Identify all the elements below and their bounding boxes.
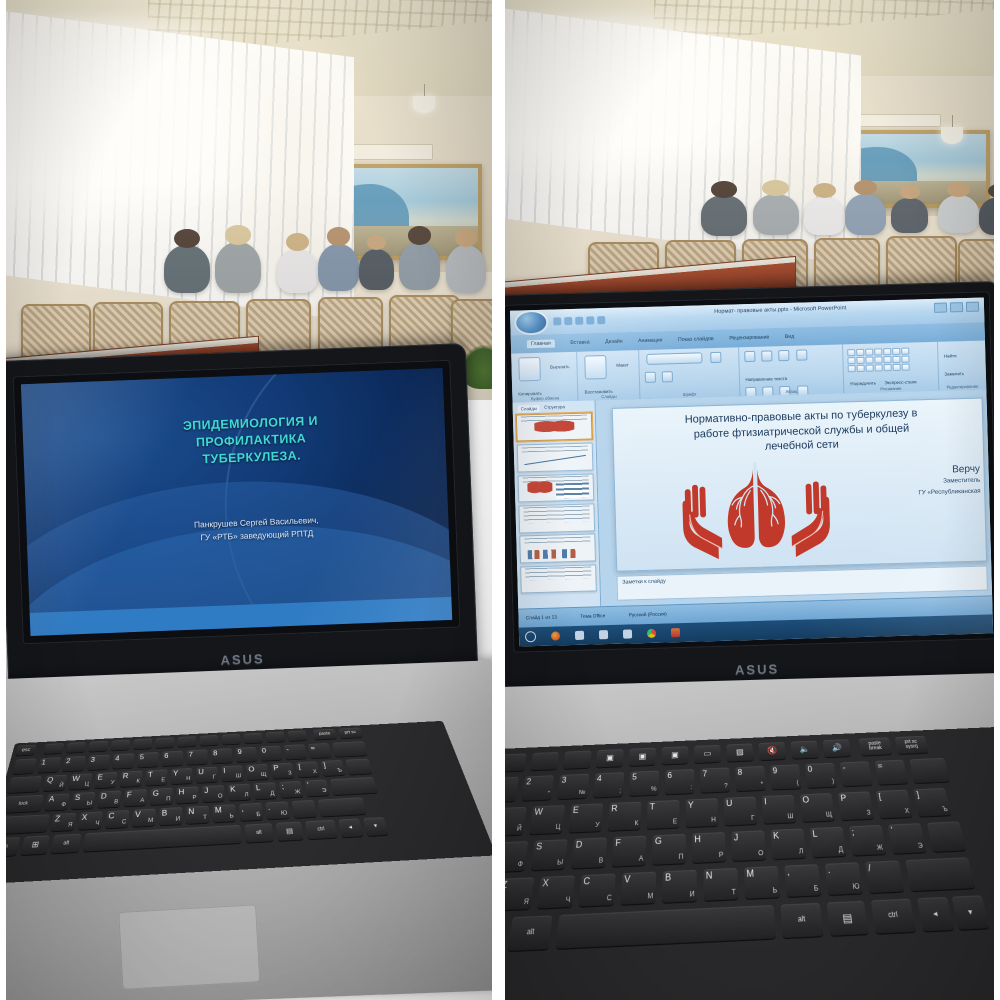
key-f2[interactable] bbox=[505, 753, 527, 772]
laptop-screen-right[interactable]: Нормат- правовые акты.pptx - Microsoft P… bbox=[510, 297, 993, 646]
key-u[interactable]: UГ bbox=[196, 767, 218, 783]
key-minus[interactable]: - bbox=[840, 761, 873, 786]
key-bracket-left[interactable]: [Х bbox=[876, 790, 913, 819]
key-bracket-left[interactable]: [Х bbox=[296, 761, 320, 777]
key-m[interactable]: MЬ bbox=[213, 804, 236, 822]
key-shift-left[interactable] bbox=[0, 814, 50, 834]
key-quote[interactable]: 'Э bbox=[888, 823, 926, 854]
attendee bbox=[215, 242, 261, 294]
key-4[interactable]: 4 bbox=[112, 753, 134, 769]
key-a[interactable]: AФ bbox=[45, 793, 70, 811]
save-icon[interactable] bbox=[553, 318, 561, 326]
thumbnail-slide-4[interactable] bbox=[518, 503, 595, 533]
key-period[interactable]: .Ю bbox=[265, 801, 290, 819]
laptop-base-right: ▣ ▣ ▣ ▭ ▨ 🔇 🔈 🔊 pastebreak prt scsysrq bbox=[505, 672, 1000, 1000]
conference-room-right bbox=[505, 0, 1000, 318]
key-label-sysrq: sysrq bbox=[905, 745, 918, 750]
panel-divider bbox=[492, 0, 505, 1000]
key-period[interactable]: .Ю bbox=[825, 862, 863, 895]
attendee bbox=[446, 245, 487, 293]
key-s[interactable]: SЫ bbox=[531, 839, 568, 870]
powerpoint-icon[interactable] bbox=[670, 628, 679, 637]
attendee bbox=[164, 245, 210, 293]
tab-retsenzirovanie[interactable]: Рецензирование bbox=[729, 334, 769, 341]
right-margin bbox=[994, 0, 1000, 1000]
screen-bezel: Нормат- правовые акты.pptx - Microsoft P… bbox=[505, 291, 999, 652]
key-f7[interactable]: ▣ bbox=[661, 746, 688, 764]
key-r[interactable]: RК bbox=[120, 771, 143, 788]
key-t[interactable]: TЕ bbox=[145, 769, 167, 785]
key-alt-right[interactable]: alt bbox=[245, 823, 274, 843]
attendee bbox=[753, 194, 799, 235]
briefcase-icon[interactable] bbox=[575, 631, 584, 640]
bullets-icon[interactable] bbox=[744, 351, 755, 362]
key-enter[interactable] bbox=[330, 777, 377, 795]
key-f12-vol-up[interactable]: 🔊 bbox=[823, 739, 852, 757]
key-win[interactable]: ⊞ bbox=[505, 917, 506, 953]
window-controls[interactable] bbox=[934, 301, 979, 312]
key-quote[interactable]: 'Э bbox=[305, 779, 330, 796]
clear-format-icon[interactable] bbox=[662, 371, 673, 382]
slide-title-text: Нормативно-правовые акты по туберкулезу … bbox=[627, 405, 975, 458]
key-backspace[interactable] bbox=[332, 741, 367, 757]
key-k[interactable]: KЛ bbox=[771, 828, 806, 859]
key-b[interactable]: BИ bbox=[159, 807, 182, 825]
key-f4[interactable] bbox=[563, 750, 591, 768]
ribbon-group-font: Ж К Ч abc S AV Aa A Шрифт bbox=[639, 347, 740, 399]
key-x[interactable]: XЧ bbox=[537, 875, 575, 908]
key-v[interactable]: VМ bbox=[621, 872, 657, 905]
key-z[interactable]: ZЯ bbox=[51, 813, 77, 832]
key-alt-right[interactable]: alt bbox=[780, 903, 823, 938]
key-c[interactable]: CС bbox=[579, 873, 616, 906]
ribbon-group-clipboard: Вырезать Копировать Формат по образцу Бу… bbox=[511, 351, 579, 402]
ribbon-group-drawing: Упорядочить Экспресс-стили Рисование bbox=[843, 341, 939, 393]
key-e[interactable]: EУ bbox=[94, 772, 117, 789]
lungs-icon bbox=[726, 463, 786, 548]
key-w[interactable]: WЦ bbox=[68, 773, 92, 790]
key-arrow-left[interactable]: ◂ bbox=[917, 897, 954, 931]
close-button[interactable] bbox=[966, 301, 979, 311]
key-r[interactable]: RК bbox=[608, 802, 642, 831]
key-arrow-updown[interactable]: ▾ bbox=[952, 895, 990, 929]
numbering-icon[interactable] bbox=[761, 350, 772, 361]
tab-glavnaya[interactable]: Главная bbox=[527, 339, 555, 348]
thumb-tab-slides[interactable]: Слайды bbox=[518, 405, 541, 413]
key-i[interactable]: IШ bbox=[762, 795, 796, 824]
chrome-icon[interactable] bbox=[647, 629, 656, 638]
firefox-icon[interactable] bbox=[551, 632, 560, 641]
key-bracket-right[interactable]: ]Ъ bbox=[321, 760, 345, 776]
touchpad-left[interactable] bbox=[118, 904, 260, 990]
key-n[interactable]: NТ bbox=[703, 868, 738, 901]
font-grow-icon[interactable] bbox=[711, 351, 722, 362]
thumbnail-slide-5[interactable] bbox=[519, 534, 596, 564]
key-p[interactable]: PЗ bbox=[838, 791, 874, 820]
attendee bbox=[891, 198, 927, 233]
key-equal[interactable]: = bbox=[308, 743, 331, 758]
key-8[interactable]: 8 bbox=[211, 748, 232, 764]
key-alt-left[interactable]: alt bbox=[508, 915, 553, 951]
notes-pane[interactable]: Заметки к слайду bbox=[616, 565, 988, 600]
slideshow-icon[interactable] bbox=[586, 317, 594, 325]
key-d[interactable]: DВ bbox=[571, 837, 607, 868]
asus-logo: ASUS bbox=[220, 651, 265, 668]
ribbon-group-paragraph: Направление текста Выровнять текст Преоб… bbox=[739, 344, 845, 396]
key-f11[interactable] bbox=[266, 732, 286, 743]
redo-icon[interactable] bbox=[575, 317, 583, 325]
key-9[interactable]: 9 bbox=[235, 747, 257, 762]
key-comma[interactable]: ,Б bbox=[239, 803, 263, 821]
slide-title-text: ЭПИДЕМИОЛОГИЯ И ПРОФИЛАКТИКА ТУБЕРКУЛЕЗА… bbox=[124, 411, 379, 472]
laptop-lid: Нормат- правовые акты.pptx - Microsoft P… bbox=[505, 281, 1000, 695]
key-f10[interactable] bbox=[244, 733, 263, 744]
key-backspace[interactable] bbox=[909, 758, 949, 783]
powerpoint-window[interactable]: Нормат- правовые акты.pptx - Microsoft P… bbox=[510, 297, 993, 646]
key-menu[interactable]: ▤ bbox=[827, 901, 869, 936]
key-y[interactable]: YН bbox=[686, 798, 719, 827]
quick-access-toolbar[interactable] bbox=[553, 313, 605, 329]
key-f4[interactable] bbox=[111, 740, 131, 751]
key-f8-display[interactable]: ▭ bbox=[694, 745, 721, 763]
find-label[interactable]: Найти bbox=[944, 353, 957, 358]
key-l[interactable]: LД bbox=[254, 782, 278, 799]
key-ctrl-right[interactable]: ctrl bbox=[871, 899, 916, 934]
key-v[interactable]: VМ bbox=[132, 808, 156, 826]
key-j[interactable]: JО bbox=[202, 785, 224, 802]
ppt-workspace: Слайды Структура bbox=[513, 389, 993, 609]
screenshot-canvas: ЭПИДЕМИОЛОГИЯ И ПРОФИЛАКТИКА ТУБЕРКУЛЕЗА… bbox=[0, 0, 1000, 1000]
key-h[interactable]: HР bbox=[176, 786, 198, 803]
key-f8[interactable] bbox=[200, 735, 219, 746]
key-paste-break[interactable]: paste bbox=[313, 729, 337, 740]
key-p[interactable]: PЗ bbox=[271, 763, 294, 779]
minimize-button[interactable] bbox=[934, 302, 947, 312]
search-icon[interactable] bbox=[525, 631, 536, 642]
key-f5[interactable]: ▣ bbox=[596, 749, 624, 767]
key-bracket-right[interactable]: ]Ъ bbox=[913, 788, 951, 817]
key-g[interactable]: GП bbox=[150, 788, 173, 805]
key-f3[interactable] bbox=[530, 752, 559, 770]
lungs-in-hands-graphic bbox=[651, 457, 861, 563]
ribbon-group-editing: Найти Заменить Выделить Редактирование bbox=[938, 340, 987, 390]
key-equal[interactable]: = bbox=[875, 760, 908, 785]
key-prtsc[interactable]: prt sc bbox=[338, 727, 362, 738]
restore-button[interactable] bbox=[950, 302, 963, 312]
key-f6[interactable]: ▣ bbox=[629, 748, 656, 766]
key-alt-left[interactable]: alt bbox=[51, 834, 82, 854]
arrange-label[interactable]: Упорядочить bbox=[850, 380, 876, 386]
key-e[interactable]: EУ bbox=[568, 803, 603, 832]
key-3[interactable]: 3 bbox=[87, 755, 110, 771]
slide-editing-area[interactable]: Нормативно-правовые акты по туберкулезу … bbox=[595, 389, 992, 607]
key-q[interactable]: QЙ bbox=[505, 807, 527, 836]
key-label-break: break bbox=[869, 746, 882, 751]
attendee bbox=[701, 195, 747, 236]
undo-icon[interactable] bbox=[564, 317, 572, 325]
slide-author-block: Верчу Заместитель ГУ «Республиканская bbox=[918, 463, 981, 498]
attendee bbox=[804, 197, 845, 235]
key-c[interactable]: CС bbox=[105, 810, 129, 828]
attendee bbox=[277, 249, 318, 293]
attendee bbox=[938, 195, 979, 233]
font-name-combo[interactable] bbox=[646, 352, 702, 365]
tab-pokaz-slaydov[interactable]: Показ слайдов bbox=[678, 336, 714, 343]
text-direction-label[interactable]: Направление текста bbox=[745, 376, 787, 382]
key-h[interactable]: HР bbox=[692, 832, 726, 863]
thumbnail-slide-6[interactable] bbox=[520, 564, 597, 594]
customize-icon[interactable] bbox=[597, 316, 605, 324]
current-slide[interactable]: Нормативно-правовые акты по туберкулезу … bbox=[611, 398, 987, 572]
key-slash[interactable] bbox=[292, 800, 317, 818]
key-5[interactable]: 5% bbox=[629, 771, 659, 796]
key-semicolon[interactable]: ;Ж bbox=[279, 781, 303, 798]
key-f9[interactable]: ▨ bbox=[726, 743, 753, 761]
thumbnail-slide-2[interactable] bbox=[517, 443, 594, 473]
laptop-left: ЭПИДЕМИОЛОГИЯ И ПРОФИЛАКТИКА ТУБЕРКУЛЕЗА… bbox=[0, 340, 492, 1000]
laptop-base-left: esc paste prt sc bbox=[0, 659, 492, 1000]
tab-vid[interactable]: Вид bbox=[785, 334, 795, 340]
key-l[interactable]: LД bbox=[810, 827, 846, 858]
key-1[interactable]: 1 bbox=[37, 757, 61, 773]
key-paste-break[interactable]: pastebreak bbox=[859, 737, 892, 755]
thumb-tab-outline[interactable]: Структура bbox=[544, 404, 565, 412]
attendee bbox=[845, 194, 886, 235]
key-tab[interactable] bbox=[7, 776, 42, 793]
screen-bezel: ЭПИДЕМИОЛОГИЯ И ПРОФИЛАКТИКА ТУБЕРКУЛЕЗА… bbox=[13, 360, 461, 645]
key-z[interactable]: ZЯ bbox=[505, 877, 534, 910]
key-o[interactable]: OЩ bbox=[246, 764, 269, 780]
key-d[interactable]: DВ bbox=[97, 791, 121, 808]
laptop-right: Нормат- правовые акты.pptx - Microsoft P… bbox=[505, 288, 1000, 1000]
key-shift-right[interactable] bbox=[905, 857, 975, 891]
key-2[interactable]: 2 bbox=[62, 756, 86, 772]
key-3[interactable]: 3№ bbox=[557, 774, 589, 800]
status-language: Русский (Россия) bbox=[629, 612, 667, 618]
attendee bbox=[359, 249, 395, 289]
key-tilde[interactable] bbox=[12, 758, 37, 774]
key-w[interactable]: WЦ bbox=[529, 805, 565, 834]
pendant-lamp bbox=[941, 127, 963, 144]
folder-icon[interactable] bbox=[623, 630, 632, 639]
key-win[interactable]: ⊞ bbox=[20, 835, 49, 855]
key-n[interactable]: NТ bbox=[186, 806, 209, 824]
title-slide: ЭПИДЕМИОЛОГИЯ И ПРОФИЛАКТИКА ТУБЕРКУЛЕЗА… bbox=[21, 368, 452, 636]
thumbnail-slide-3[interactable] bbox=[518, 473, 595, 503]
slide-thumbnail-panel[interactable]: Слайды Структура bbox=[513, 400, 602, 610]
left-hand-icon bbox=[681, 484, 722, 560]
thumbnail-slide-1[interactable] bbox=[516, 412, 593, 442]
key-space[interactable] bbox=[83, 825, 242, 852]
key-semicolon[interactable]: ;Ж bbox=[849, 825, 886, 856]
key-comma[interactable]: ,Б bbox=[784, 864, 821, 897]
explorer-icon[interactable] bbox=[599, 630, 608, 639]
key-prtsc-sysrq[interactable]: prt scsysrq bbox=[895, 736, 929, 754]
key-capslock[interactable]: lock bbox=[2, 795, 44, 813]
key-1[interactable]: 1 bbox=[505, 777, 519, 803]
key-space[interactable] bbox=[556, 905, 776, 949]
laptop-screen-left[interactable]: ЭПИДЕМИОЛОГИЯ И ПРОФИЛАКТИКА ТУБЕРКУЛЕЗА… bbox=[21, 368, 452, 636]
key-a[interactable]: AФ bbox=[505, 841, 528, 872]
key-i[interactable]: IШ bbox=[221, 765, 243, 781]
asus-logo: ASUS bbox=[735, 661, 780, 677]
key-f7[interactable] bbox=[178, 736, 197, 747]
paste-button[interactable] bbox=[518, 357, 541, 382]
key-7[interactable]: 7? bbox=[700, 767, 730, 792]
key-f9[interactable] bbox=[222, 734, 241, 745]
key-f2[interactable] bbox=[66, 742, 86, 753]
key-x[interactable]: XЧ bbox=[78, 811, 103, 830]
key-y[interactable]: YН bbox=[171, 768, 193, 784]
key-2[interactable]: 2" bbox=[521, 775, 554, 801]
key-m[interactable]: MЬ bbox=[744, 866, 780, 899]
key-4[interactable]: 4; bbox=[593, 772, 624, 797]
key-slash[interactable]: / bbox=[865, 860, 904, 893]
key-f11-vol-down[interactable]: 🔈 bbox=[791, 741, 819, 759]
key-shift-right[interactable] bbox=[318, 797, 366, 816]
key-o[interactable]: OЩ bbox=[800, 793, 835, 822]
key-u[interactable]: UГ bbox=[724, 796, 757, 825]
laptop-lid: ЭПИДЕМИОЛОГИЯ И ПРОФИЛАКТИКА ТУБЕРКУЛЕЗА… bbox=[0, 343, 478, 685]
key-f[interactable]: FА bbox=[612, 836, 647, 867]
quick-styles-label[interactable]: Экспресс-стили bbox=[884, 379, 916, 385]
key-k[interactable]: KЛ bbox=[228, 784, 251, 801]
key-menu[interactable]: ▤ bbox=[276, 822, 304, 841]
tab-vstavka[interactable]: Вставка bbox=[570, 339, 589, 346]
new-slide-button[interactable] bbox=[585, 355, 608, 380]
replace-label[interactable]: Заменить bbox=[944, 371, 964, 377]
key-f5[interactable] bbox=[133, 738, 152, 749]
ribbon-group-slides: Макет Восстановить Удалить Слайды bbox=[577, 350, 640, 401]
attendee bbox=[399, 242, 440, 290]
key-f3[interactable] bbox=[88, 741, 108, 752]
key-6[interactable]: 6 bbox=[162, 751, 183, 767]
key-8[interactable]: 8* bbox=[735, 766, 765, 791]
key-esc[interactable]: esc bbox=[15, 745, 36, 756]
office-orb-icon[interactable] bbox=[516, 312, 547, 334]
right-photo: Нормат- правовые акты.pptx - Microsoft P… bbox=[505, 0, 1000, 1000]
key-9[interactable]: 9( bbox=[770, 764, 801, 789]
key-g[interactable]: GП bbox=[652, 834, 686, 865]
layout-label[interactable]: Макет bbox=[616, 362, 629, 367]
attendee bbox=[318, 244, 359, 292]
status-theme: Тема Office bbox=[580, 614, 605, 620]
key-minus[interactable]: - bbox=[284, 744, 307, 759]
key-f[interactable]: FА bbox=[124, 789, 147, 806]
key-0[interactable]: 0) bbox=[805, 763, 837, 788]
right-hand-icon bbox=[790, 481, 831, 557]
indent-less-icon[interactable] bbox=[779, 350, 790, 361]
key-f6[interactable] bbox=[155, 737, 174, 748]
status-slide-info: Слайд 1 из 13 bbox=[526, 615, 557, 621]
key-f10-mute[interactable]: 🔇 bbox=[758, 742, 786, 760]
key-5[interactable]: 5 bbox=[137, 752, 159, 768]
key-arrow-down[interactable]: ▾ bbox=[363, 817, 388, 836]
key-backslash[interactable] bbox=[345, 759, 372, 775]
key-t[interactable]: TЕ bbox=[647, 800, 680, 829]
window-title: Нормат- правовые акты.pptx - Microsoft P… bbox=[662, 304, 899, 317]
left-photo: ЭПИДЕМИОЛОГИЯ И ПРОФИЛАКТИКА ТУБЕРКУЛЕЗА… bbox=[0, 0, 492, 1000]
tab-dizayn[interactable]: Дизайн bbox=[605, 338, 623, 344]
keyboard-left[interactable]: esc paste prt sc bbox=[0, 721, 492, 885]
key-7[interactable]: 7 bbox=[187, 749, 208, 765]
tab-animatsiya[interactable]: Анимация bbox=[638, 337, 663, 344]
key-q[interactable]: QЙ bbox=[43, 775, 68, 792]
key-enter[interactable] bbox=[927, 821, 966, 851]
key-j[interactable]: JО bbox=[731, 830, 766, 861]
author-org: ГУ «Республиканская bbox=[918, 485, 980, 498]
left-margin bbox=[0, 0, 6, 1000]
indent-more-icon[interactable] bbox=[796, 349, 807, 360]
key-f12[interactable] bbox=[287, 730, 307, 741]
keyboard-right[interactable]: ▣ ▣ ▣ ▭ ▨ 🔇 🔈 🔊 pastebreak prt scsysrq bbox=[505, 726, 1000, 1000]
key-b[interactable]: BИ bbox=[662, 870, 697, 903]
cut-label[interactable]: Вырезать bbox=[550, 364, 570, 370]
key-f1[interactable] bbox=[43, 743, 64, 754]
key-s[interactable]: SЫ bbox=[71, 792, 96, 810]
key-arrow-left[interactable]: ◂ bbox=[338, 818, 363, 837]
shapes-gallery[interactable] bbox=[847, 345, 933, 372]
key-6[interactable]: 6: bbox=[665, 769, 694, 794]
key-0[interactable]: 0 bbox=[260, 746, 282, 761]
font-shrink-icon[interactable] bbox=[645, 371, 656, 382]
key-ctrl-right[interactable]: ctrl bbox=[305, 820, 338, 840]
